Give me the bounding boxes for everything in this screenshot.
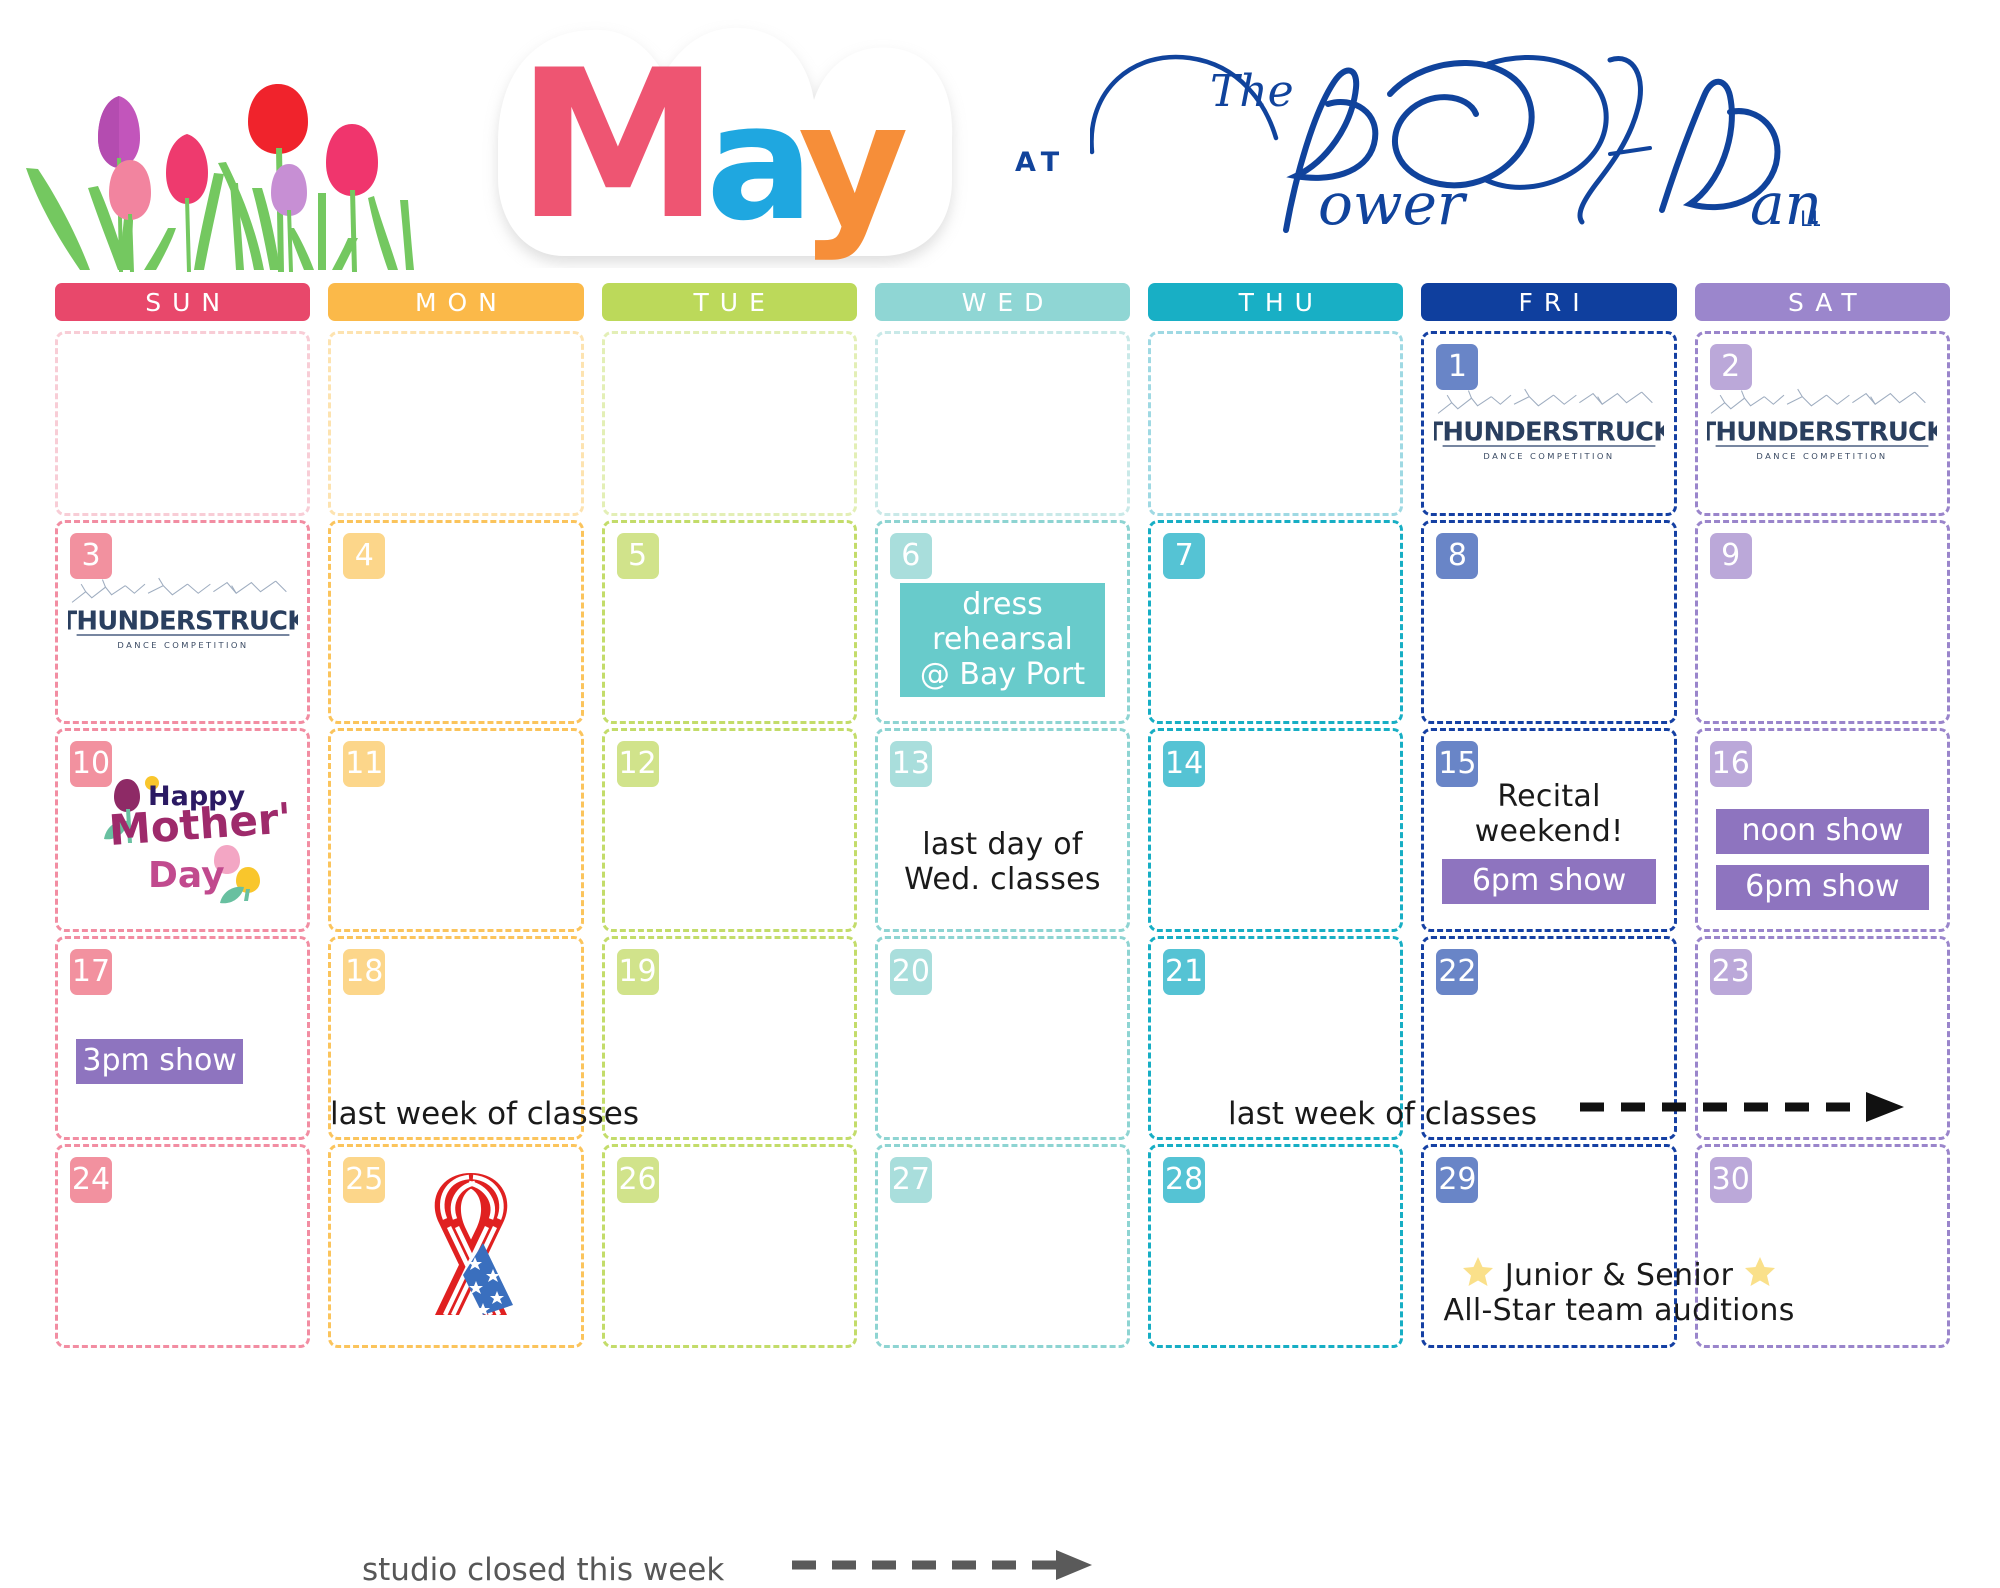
power-of-dance-logo: The ower ance, LLC (1090, 34, 1820, 234)
day-cell-15[interactable]: 156pm showRecitalweekend! (1421, 728, 1676, 932)
day-number: 22 (1436, 949, 1478, 995)
day-cell-26[interactable]: 26 (602, 1144, 857, 1348)
day-cell-empty-tue[interactable] (602, 331, 857, 516)
day-cell-19[interactable]: 19 (602, 936, 857, 1140)
svg-text:THUNDERSTRUCK: THUNDERSTRUCK (1434, 418, 1664, 448)
mothers-day-logo-icon: Happy Mother's Day (86, 769, 291, 904)
day-cell-29[interactable]: 29 Junior & Senior All-Star team auditio… (1421, 1144, 1676, 1348)
day-cell-13[interactable]: 13last day ofWed. classes (875, 728, 1130, 932)
event-text: last day ofWed. classes (878, 827, 1127, 898)
day-number: 29 (1436, 1157, 1478, 1203)
weekday-header-thu: THU (1148, 283, 1403, 321)
day-number: 4 (343, 533, 385, 579)
day-cell-empty-thu[interactable] (1148, 331, 1403, 516)
calendar-header: M a y AT (0, 0, 2000, 272)
day-cell-25[interactable]: 25 (328, 1144, 583, 1348)
day-cell-20[interactable]: 20 (875, 936, 1130, 1140)
day-number: 24 (70, 1157, 112, 1203)
day-cell-4[interactable]: 4 (328, 520, 583, 724)
svg-text:DANCE COMPETITION: DANCE COMPETITION (117, 640, 248, 650)
day-number: 1 (1436, 344, 1478, 390)
mothers-day-graphic: Happy Mother's Day (86, 769, 291, 908)
event-chip[interactable]: 6pm show (1716, 865, 1929, 910)
day-number: 8 (1436, 533, 1478, 579)
event-chip[interactable]: noon show (1716, 809, 1929, 854)
event-chip[interactable]: 6pm show (1442, 859, 1655, 904)
weekday-header-mon: MON (328, 283, 583, 321)
day-cell-7[interactable]: 7 (1148, 520, 1403, 724)
event-text: Recitalweekend! (1424, 779, 1673, 850)
svg-text:THUNDERSTRUCK: THUNDERSTRUCK (1707, 418, 1937, 448)
logo-llc: LLC (1800, 207, 1820, 231)
day-number: 9 (1710, 533, 1752, 579)
event-chip[interactable]: dressrehearsal@ Bay Port (900, 583, 1105, 697)
day-number: 19 (617, 949, 659, 995)
day-cell-10[interactable]: 10 Happy Mother's Day (55, 728, 310, 932)
at-label: AT (1015, 147, 1066, 178)
day-number: 12 (617, 741, 659, 787)
day-number: 20 (890, 949, 932, 995)
tulips-icon (18, 38, 418, 273)
thunderstruck-logo-icon: THUNDERSTRUCK DANCE COMPETITION (1707, 386, 1937, 462)
day-number: 26 (617, 1157, 659, 1203)
weekday-header-row: SUNMONTUEWEDTHUFRISAT (55, 283, 1950, 321)
day-cell-empty-mon[interactable] (328, 331, 583, 516)
month-title-badge: M a y (468, 18, 968, 268)
day-cell-18[interactable]: 18 (328, 936, 583, 1140)
svg-text:DANCE COMPETITION: DANCE COMPETITION (1757, 451, 1888, 461)
event-chip[interactable]: 3pm show (76, 1039, 243, 1084)
day-cell-9[interactable]: 9 (1695, 520, 1950, 724)
star-icon (1461, 1255, 1495, 1289)
usa-ribbon-icon (413, 1165, 531, 1320)
logo-power: ower (1318, 170, 1468, 234)
day-cell-24[interactable]: 24 (55, 1144, 310, 1348)
arrow-right-black-icon (1578, 1090, 1918, 1124)
day-cell-1[interactable]: 1 THUNDERSTRUCK DANCE COMPETITION (1421, 331, 1676, 516)
day-number: 18 (343, 949, 385, 995)
day-number: 13 (890, 741, 932, 787)
day-number: 6 (890, 533, 932, 579)
svg-text:M: M (516, 27, 720, 265)
event-text: Junior & Senior All-Star team auditions (1324, 1255, 1913, 1329)
day-number: 14 (1163, 741, 1205, 787)
day-number: 7 (1163, 533, 1205, 579)
day-number: 16 (1710, 741, 1752, 787)
day-cell-8[interactable]: 8 (1421, 520, 1676, 724)
day-cell-5[interactable]: 5 (602, 520, 857, 724)
logo-the: The (1210, 66, 1294, 117)
star-icon (1743, 1255, 1777, 1289)
day-number: 30 (1710, 1157, 1752, 1203)
weekday-header-sat: SAT (1695, 283, 1950, 321)
svg-text:THUNDERSTRUCK: THUNDERSTRUCK (68, 607, 298, 637)
day-number: 21 (1163, 949, 1205, 995)
day-cell-27[interactable]: 27 (875, 1144, 1130, 1348)
thunderstruck-logo-icon: THUNDERSTRUCK DANCE COMPETITION (68, 575, 298, 651)
day-cell-empty-sun[interactable] (55, 331, 310, 516)
day-cell-14[interactable]: 14 (1148, 728, 1403, 932)
weekday-header-fri: FRI (1421, 283, 1676, 321)
calendar-grid: 1 THUNDERSTRUCK DANCE COMPETITION 2 THUN… (55, 331, 1950, 1348)
day-cell-2[interactable]: 2 THUNDERSTRUCK DANCE COMPETITION (1695, 331, 1950, 516)
thunderstruck-logo-icon: THUNDERSTRUCK DANCE COMPETITION (1434, 386, 1664, 462)
thunderstruck-logo: THUNDERSTRUCK DANCE COMPETITION (68, 575, 298, 655)
day-number: 17 (70, 949, 112, 995)
svg-text:y: y (798, 66, 909, 264)
day-cell-11[interactable]: 11 (328, 728, 583, 932)
day-number: 2 (1710, 344, 1752, 390)
day-cell-16[interactable]: 16noon show6pm show (1695, 728, 1950, 932)
arrow-right-gray-icon (790, 1548, 1110, 1582)
day-number: 28 (1163, 1157, 1205, 1203)
calendar-page: M a y AT (0, 0, 2000, 1556)
day-cell-12[interactable]: 12 (602, 728, 857, 932)
day-cell-empty-wed[interactable] (875, 331, 1130, 516)
thunderstruck-logo: THUNDERSTRUCK DANCE COMPETITION (1434, 386, 1664, 466)
span-studio-closed: studio closed this week (362, 1552, 724, 1588)
day-cell-17[interactable]: 173pm show (55, 936, 310, 1140)
day-number: 27 (890, 1157, 932, 1203)
day-number: 11 (343, 741, 385, 787)
weekday-header-tue: TUE (602, 283, 857, 321)
day-cell-3[interactable]: 3 THUNDERSTRUCK DANCE COMPETITION (55, 520, 310, 724)
day-number: 25 (343, 1157, 385, 1203)
usa-ribbon-graphic (413, 1165, 531, 1324)
svg-text:DANCE COMPETITION: DANCE COMPETITION (1483, 451, 1614, 461)
day-cell-21[interactable]: 21 (1148, 936, 1403, 1140)
day-number: 5 (617, 533, 659, 579)
day-number: 3 (70, 533, 112, 579)
day-number: 23 (1710, 949, 1752, 995)
weekday-header-sun: SUN (55, 283, 310, 321)
weekday-header-wed: WED (875, 283, 1130, 321)
day-cell-6[interactable]: 6dressrehearsal@ Bay Port (875, 520, 1130, 724)
svg-text:Day: Day (148, 855, 225, 896)
thunderstruck-logo: THUNDERSTRUCK DANCE COMPETITION (1707, 386, 1937, 466)
